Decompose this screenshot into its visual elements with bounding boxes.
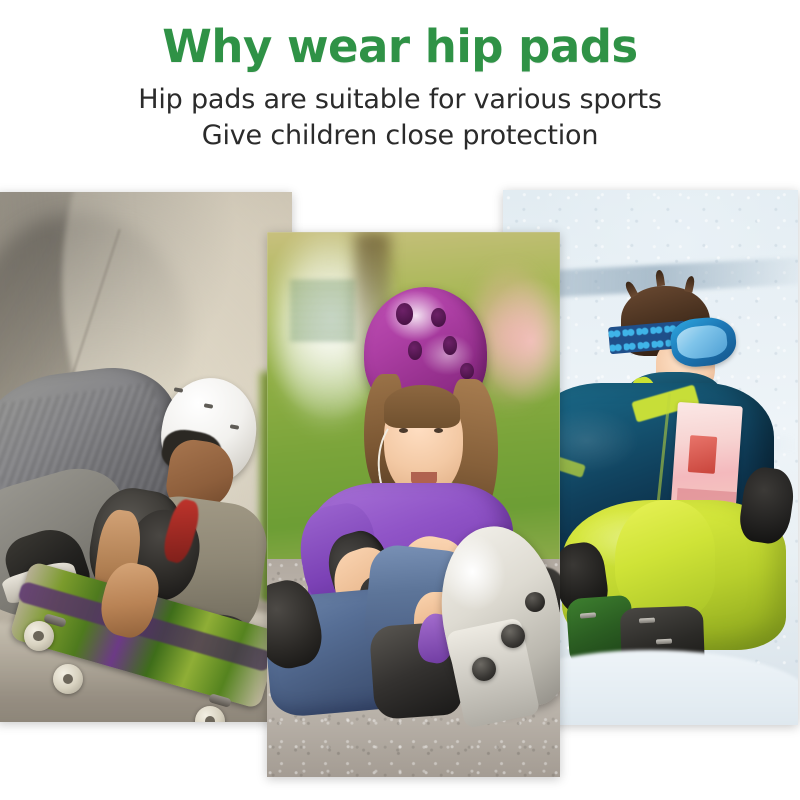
- helmet-vent-icon: [443, 336, 458, 355]
- photo-skateboarding-inner: [0, 192, 292, 722]
- inline-skate-wheel: [472, 657, 496, 681]
- helmet-vent-icon: [460, 363, 473, 379]
- boot-buckle: [580, 612, 596, 618]
- promo-banner: Why wear hip pads Hip pads are suitable …: [0, 0, 800, 800]
- photo-collage: [0, 0, 800, 800]
- inline-skate-wheel: [525, 592, 545, 612]
- helmet-vent-icon: [431, 308, 446, 327]
- helmet-vent-icon: [396, 303, 414, 325]
- race-bib-number: [688, 435, 717, 474]
- boot-buckle: [639, 618, 655, 624]
- ski-pants-knee-highlight: [615, 500, 715, 618]
- park-bench-blur: [290, 281, 354, 341]
- photo-skateboarding: [0, 192, 292, 722]
- photo-inline-skating-inner: [267, 232, 560, 777]
- photo-inline-skating: [267, 232, 560, 777]
- skateboard-wheel: [53, 664, 83, 694]
- skateboard-wheel: [24, 621, 54, 651]
